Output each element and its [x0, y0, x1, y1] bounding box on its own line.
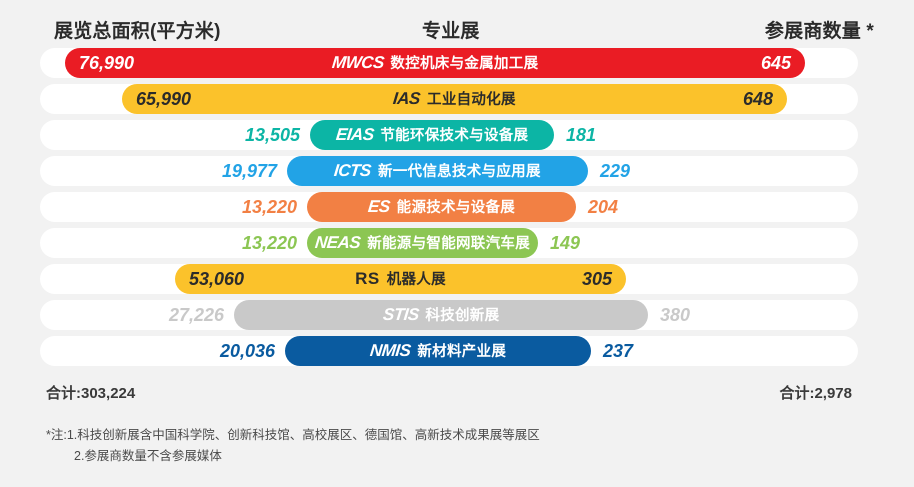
exhibitor-count-value: 648: [717, 84, 773, 114]
area-value: 53,060: [189, 264, 349, 294]
exhibition-logo: RS: [355, 264, 380, 294]
exhibition-logo: STIS: [381, 300, 420, 330]
footnote-1: *注:1.科技创新展含中国科学院、创新科技馆、高校展区、德国馆、高新技术成果展等…: [46, 425, 866, 446]
footnotes: *注:1.科技创新展含中国科学院、创新科技馆、高校展区、德国馆、高新技术成果展等…: [46, 425, 866, 467]
bar-label-group: ES能源技术与设备展: [368, 192, 515, 223]
chart-row: MWCS数控机床与金属加工展76,990645: [0, 48, 914, 78]
area-value: 76,990: [79, 48, 239, 78]
bar-eias[interactable]: EIAS节能环保技术与设备展: [310, 120, 554, 150]
exhibition-name: 能源技术与设备展: [397, 193, 515, 223]
exhibition-name: 节能环保技术与设备展: [380, 121, 528, 151]
bar-label-group: MWCS数控机床与金属加工展: [332, 48, 539, 79]
header-area-label: 展览总面积(平方米): [54, 16, 221, 43]
bar-label-group: NEAS新能源与智能网联汽车展: [315, 228, 530, 259]
exhibitor-count-value: 645: [735, 48, 791, 78]
exhibitor-count-value: 204: [588, 192, 678, 222]
exhibition-logo: EIAS: [334, 120, 375, 150]
exhibition-logo: NEAS: [313, 228, 361, 258]
chart-row: ES能源技术与设备展13,220204: [0, 192, 914, 222]
exhibition-logo: IAS: [392, 84, 422, 114]
exhibition-logo: MWCS: [330, 48, 385, 78]
exhibition-name: 工业自动化展: [427, 85, 516, 115]
total-area: 合计:303,224: [46, 382, 135, 403]
bar-label-group: ICTS新一代信息技术与应用展: [334, 156, 541, 187]
chart-row: NEAS新能源与智能网联汽车展13,220149: [0, 228, 914, 258]
exhibitor-count-value: 305: [556, 264, 612, 294]
bar-es[interactable]: ES能源技术与设备展: [307, 192, 576, 222]
bar-label-group: EIAS节能环保技术与设备展: [336, 120, 529, 151]
exhibitor-count-value: 229: [600, 156, 690, 186]
chart-row: IAS工业自动化展65,990648: [0, 84, 914, 114]
header-exhibition-label: 专业展: [422, 16, 480, 43]
area-value: 20,036: [109, 336, 275, 366]
exhibition-logo: ICTS: [333, 156, 373, 186]
chart-row: RS机器人展53,060305: [0, 264, 914, 294]
bar-label-group: IAS工业自动化展: [393, 84, 516, 115]
bar-nmis[interactable]: NMIS新材料产业展: [285, 336, 591, 366]
exhibition-name: 科技创新展: [425, 301, 499, 331]
bar-label-group: STIS科技创新展: [383, 300, 500, 331]
exhibitor-count-value: 237: [603, 336, 693, 366]
chart-row: STIS科技创新展27,226380: [0, 300, 914, 330]
bar-stis[interactable]: STIS科技创新展: [234, 300, 648, 330]
exhibition-name: 新一代信息技术与应用展: [378, 157, 541, 187]
exhibition-name: 新能源与智能网联汽车展: [367, 229, 530, 259]
chart-header: 展览总面积(平方米) 专业展 参展商数量 *: [0, 0, 914, 48]
area-value: 13,220: [131, 228, 297, 258]
chart-row: NMIS新材料产业展20,036237: [0, 336, 914, 366]
exhibitor-count-value: 149: [550, 228, 640, 258]
exhibitor-count-value: 380: [660, 300, 750, 330]
header-exhibitor-count-label: 参展商数量 *: [765, 16, 874, 43]
area-value: 19,977: [111, 156, 277, 186]
area-value: 65,990: [136, 84, 296, 114]
area-value: 13,220: [131, 192, 297, 222]
bar-label-group: RS机器人展: [355, 264, 446, 295]
chart-row: EIAS节能环保技术与设备展13,505181: [0, 120, 914, 150]
footnote-2: 2.参展商数量不含参展媒体: [46, 446, 866, 467]
bar-neas[interactable]: NEAS新能源与智能网联汽车展: [307, 228, 538, 258]
bar-icts[interactable]: ICTS新一代信息技术与应用展: [287, 156, 588, 186]
exhibition-logo: NMIS: [368, 336, 412, 366]
chart-row: ICTS新一代信息技术与应用展19,977229: [0, 156, 914, 186]
exhibition-logo: ES: [366, 192, 391, 222]
area-value: 27,226: [58, 300, 224, 330]
area-value: 13,505: [134, 120, 300, 150]
bar-label-group: NMIS新材料产业展: [370, 336, 506, 367]
exhibition-name: 数控机床与金属加工展: [390, 49, 538, 79]
bar-chart-rows: MWCS数控机床与金属加工展76,990645IAS工业自动化展65,99064…: [0, 48, 914, 372]
exhibition-name: 新材料产业展: [417, 337, 506, 367]
exhibition-name: 机器人展: [387, 265, 446, 295]
totals-row: 合计:303,224 合计:2,978: [0, 382, 914, 406]
total-exhibitors: 合计:2,978: [779, 382, 852, 403]
exhibitor-count-value: 181: [566, 120, 656, 150]
